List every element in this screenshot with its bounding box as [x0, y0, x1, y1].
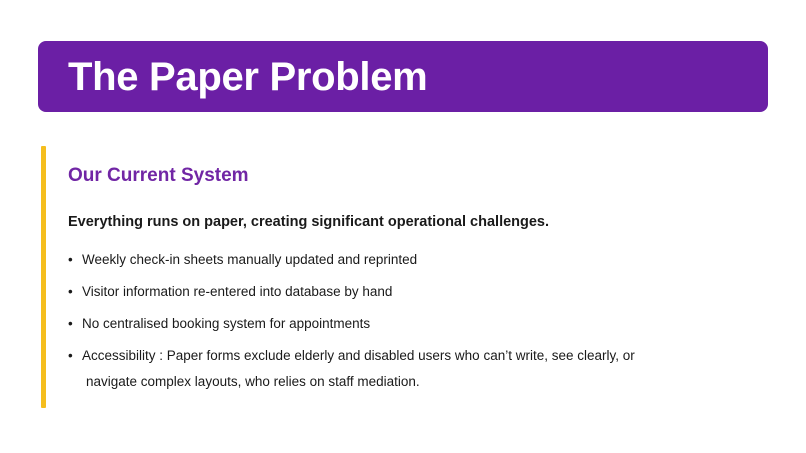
bullet-list: • Weekly check-in sheets manually update… [68, 252, 741, 390]
bullet-dot-icon: • [68, 284, 73, 301]
title-banner: The Paper Problem [38, 41, 768, 112]
content-column: Our Current System Everything runs on pa… [68, 146, 741, 391]
list-item: • No centralised booking system for appo… [68, 316, 741, 333]
content-block: Our Current System Everything runs on pa… [41, 146, 741, 408]
list-item: • Visitor information re-entered into da… [68, 284, 741, 301]
list-item-text: Accessibility : Paper forms exclude elde… [82, 348, 635, 363]
lead-statement: Everything runs on paper, creating signi… [68, 214, 741, 231]
list-item: • Weekly check-in sheets manually update… [68, 252, 741, 269]
list-item-text: Weekly check-in sheets manually updated … [82, 252, 417, 267]
left-accent-bar [41, 146, 46, 408]
bullet-dot-icon: • [68, 252, 73, 269]
bullet-dot-icon: • [68, 348, 73, 365]
slide-canvas: The Paper Problem Our Current System Eve… [0, 0, 806, 453]
list-item-text: Visitor information re-entered into data… [82, 284, 392, 299]
section-heading: Our Current System [68, 165, 741, 188]
slide-title: The Paper Problem [68, 57, 427, 97]
list-item-text: No centralised booking system for appoin… [82, 316, 370, 331]
list-item-text-continued: navigate complex layouts, who relies on … [82, 374, 741, 391]
bullet-dot-icon: • [68, 316, 73, 333]
list-item: • Accessibility : Paper forms exclude el… [68, 348, 741, 391]
